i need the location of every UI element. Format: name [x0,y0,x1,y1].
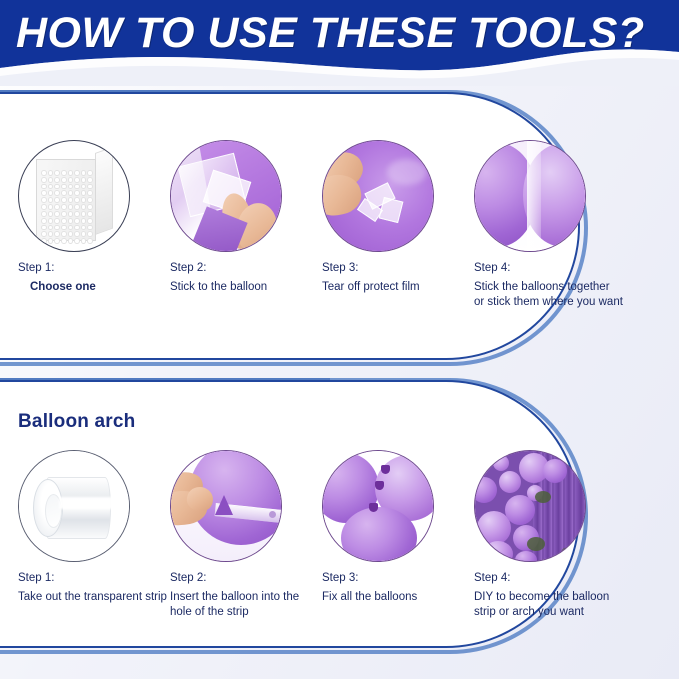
step-description: Insert the balloon into the hole of the … [170,590,330,620]
step-arch-3[interactable]: Step 3: Fix all the balloons [322,450,482,605]
image-cluster-of-fixed-balloons [322,450,434,562]
step-description: Choose one [18,280,178,295]
step-description: Stick to the balloon [170,280,330,295]
step-label: Step 1: [18,261,178,276]
step-glue-1[interactable]: Step 1: Choose one [18,140,178,295]
balloon-bottom [341,507,417,562]
step-label: Step 4: [474,261,634,276]
sheet-side-face [95,146,113,235]
glue-dot-grid [41,170,93,244]
section-title-balloon-arch: Balloon arch [18,411,135,433]
image-hand-sticking-film-to-balloon [170,140,282,252]
step-glue-2[interactable]: Step 2: Stick to the balloon [170,140,330,295]
sheet-front-face [36,159,96,241]
step-description: Take out the transparent strip [18,590,178,605]
page-title: HOW TO USE THESE TOOLS? [16,8,676,58]
step-label: Step 4: [474,571,634,586]
image-glue-dot-sheet [18,140,130,252]
step-label: Step 2: [170,261,330,276]
roll-highlight [59,497,115,509]
knot-center [375,481,384,490]
step-glue-3[interactable]: Step 3: Tear off protect film [322,140,482,295]
knot-upper [381,465,390,474]
step-label: Step 1: [18,571,178,586]
step-arch-2[interactable]: Step 2: Insert the balloon into the hole… [170,450,330,620]
image-transparent-strip-roll [18,450,130,562]
image-hand-inserting-balloon-into-strip [170,450,282,562]
step-arch-1[interactable]: Step 1: Take out the transparent strip [18,450,178,605]
page-header: HOW TO USE THESE TOOLS? [0,0,679,86]
step-description: Stick the balloons together or stick the… [474,280,634,310]
strip-hole [269,511,276,518]
image-finished-purple-balloon-arch [474,450,586,562]
step-arch-4[interactable]: Step 4: DIY to become the balloon strip … [474,450,634,620]
step-description: Fix all the balloons [322,590,482,605]
knot-lower [369,503,378,512]
step-label: Step 3: [322,261,482,276]
image-fingers-peeling-protect-film [322,140,434,252]
step-glue-4[interactable]: Step 4: Stick the balloons together or s… [474,140,634,310]
step-label: Step 3: [322,571,482,586]
step-description: Tear off protect film [322,280,482,295]
image-two-balloons-stuck-together [474,140,586,252]
step-description: DIY to become the balloon strip or arch … [474,590,634,620]
step-label: Step 2: [170,571,330,586]
